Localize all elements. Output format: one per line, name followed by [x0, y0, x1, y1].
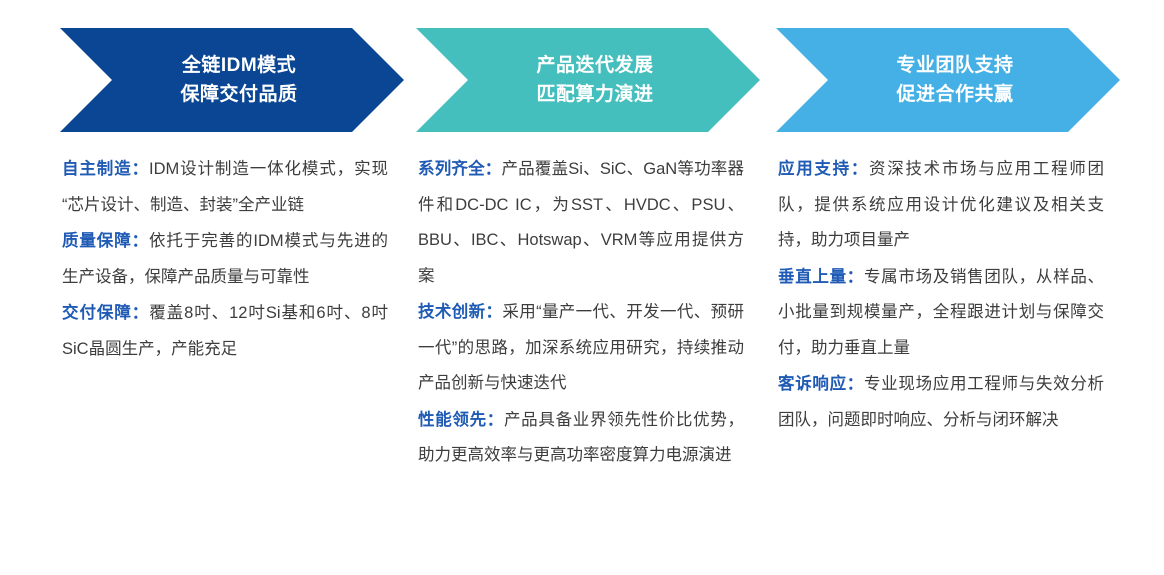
paragraph-item: 性能领先：产品具备业界领先性价比优势，助力更高效率与更高功率密度算力电源演进 — [418, 403, 744, 474]
paragraph-item: 垂直上量：专属市场及销售团队，从样品、小批量到规模量产，全程跟进计划与保障交付，… — [778, 260, 1104, 367]
body-text-2: 系列齐全：产品覆盖Si、SiC、GaN等功率器件和DC-DC IC，为SST、H… — [418, 152, 744, 475]
three-column-advantages-board: 全链IDM模式 保障交付品质 自主制造：IDM设计制造一体化模式，实现“芯片设计… — [0, 0, 1164, 575]
paragraph-lead: 性能领先： — [418, 411, 504, 429]
body-text-3: 应用支持：资深技术市场与应用工程师团队，提供系统应用设计优化建议及相关支持，助力… — [778, 152, 1104, 439]
paragraph-item: 技术创新：采用“量产一代、开发一代、预研一代”的思路，加深系统应用研究，持续推动… — [418, 295, 744, 402]
column-product-iteration: 产品迭代发展 匹配算力演进 系列齐全：产品覆盖Si、SiC、GaN等功率器件和D… — [416, 0, 760, 575]
column-team-support: 专业团队支持 促进合作共赢 应用支持：资深技术市场与应用工程师团队，提供系统应用… — [776, 0, 1120, 575]
paragraph-item: 质量保障：依托于完善的IDM模式与先进的生产设备，保障产品质量与可靠性 — [62, 224, 388, 295]
banner-title-3: 专业团队支持 促进合作共赢 — [882, 51, 1013, 110]
paragraph-lead: 自主制造： — [62, 160, 149, 178]
paragraph-lead: 应用支持： — [778, 160, 869, 178]
paragraph-item: 自主制造：IDM设计制造一体化模式，实现“芯片设计、制造、封装”全产业链 — [62, 152, 388, 223]
banner-chevron-1: 全链IDM模式 保障交付品质 — [60, 28, 404, 132]
paragraph-item: 交付保障：覆盖8吋、12吋Si基和6吋、8吋SiC晶圆生产，产能充足 — [62, 296, 388, 367]
column-idm-manufacturing: 全链IDM模式 保障交付品质 自主制造：IDM设计制造一体化模式，实现“芯片设计… — [60, 0, 404, 575]
banner-chevron-2: 产品迭代发展 匹配算力演进 — [416, 28, 760, 132]
banner-title-1: 全链IDM模式 保障交付品质 — [166, 51, 297, 110]
body-text-1: 自主制造：IDM设计制造一体化模式，实现“芯片设计、制造、封装”全产业链 质量保… — [62, 152, 388, 368]
banner-title-2: 产品迭代发展 匹配算力演进 — [522, 51, 653, 110]
paragraph-item: 系列齐全：产品覆盖Si、SiC、GaN等功率器件和DC-DC IC，为SST、H… — [418, 152, 744, 294]
paragraph-lead: 交付保障： — [62, 304, 149, 322]
paragraph-lead: 质量保障： — [62, 232, 149, 250]
paragraph-lead: 垂直上量： — [778, 268, 864, 286]
paragraph-lead: 系列齐全： — [418, 160, 501, 178]
paragraph-lead: 技术创新： — [418, 303, 502, 321]
paragraph-lead: 客诉响应： — [778, 375, 864, 393]
paragraph-body: 产品覆盖Si、SiC、GaN等功率器件和DC-DC IC，为SST、HVDC、P… — [418, 160, 744, 285]
paragraph-item: 客诉响应：专业现场应用工程师与失效分析团队，问题即时响应、分析与闭环解决 — [778, 367, 1104, 438]
paragraph-item: 应用支持：资深技术市场与应用工程师团队，提供系统应用设计优化建议及相关支持，助力… — [778, 152, 1104, 259]
banner-chevron-3: 专业团队支持 促进合作共赢 — [776, 28, 1120, 132]
